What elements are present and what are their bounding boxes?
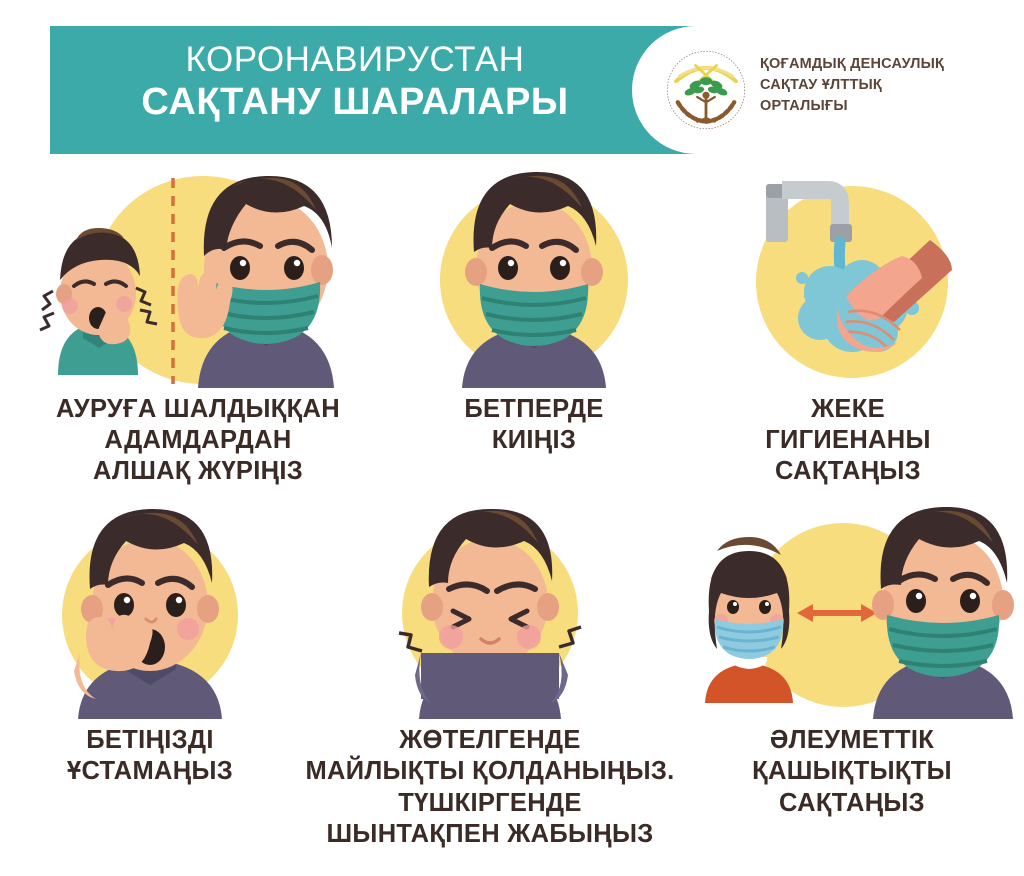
logo-panel: ҚОҒАМДЫҚ ДЕНСАУЛЫҚ САҚТАУ ҰЛТТЫҚ ОРТАЛЫҒ… [632,26,1024,154]
caption-line: ҰСТАМАҢЫЗ [67,756,233,787]
caption-line: КИІҢІЗ [464,425,603,456]
caption-line: ШЫНТАҚПЕН ЖАБЫҢЫЗ [305,819,674,850]
boy-covering-mouth-with-tissue-illustration [365,507,615,719]
girl-and-man-with-distance-arrow-illustration [687,507,1017,719]
caption-cover-cough: ЖӨТЕЛГЕНДЕ МАЙЛЫҚТЫ ҚОЛДАНЫҢЫЗ. ТҮШКІРГЕ… [305,725,674,849]
caption-line: ЖЕКЕ [765,394,931,425]
page-title: КОРОНАВИРУСТАН САҚТАНУ ШАРАЛАРЫ [90,40,620,124]
caption-keep-distance-from-sick: АУРУҒА ШАЛДЫҚҚАН АДАМДАРДАН АЛШАҚ ЖҮРІҢІ… [56,394,340,487]
caption-personal-hygiene: ЖЕКЕ ГИГИЕНАНЫ САҚТАҢЫЗ [765,394,931,487]
panel-row-top: АУРУҒА ШАЛДЫҚҚАН АДАМДАРДАН АЛШАҚ ЖҮРІҢІ… [0,160,1024,487]
header: КОРОНАВИРУСТАН САҚТАНУ ШАРАЛАРЫ [0,26,1024,154]
title-line-1: КОРОНАВИРУСТАН [90,40,620,79]
panel-keep-distance-from-sick: АУРУҒА ШАЛДЫҚҚАН АДАМДАРДАН АЛШАҚ ЖҮРІҢІ… [0,160,396,487]
hand-washing-under-faucet-illustration [722,160,974,388]
panel-dont-touch-face: БЕТІҢІЗДІ ҰСТАМАҢЫЗ [0,507,300,849]
sick-person-and-masked-man-with-divider-illustration [28,160,368,388]
panel-cover-cough: ЖӨТЕЛГЕНДЕ МАЙЛЫҚТЫ ҚОЛДАНЫҢЫЗ. ТҮШКІРГЕ… [300,507,680,849]
caption-line: ЖӨТЕЛГЕНДЕ [305,725,674,756]
org-line-2: САҚТАУ ҰЛТТЫҚ [760,75,944,96]
panel-social-distance: ӘЛЕУМЕТТІК ҚАШЫҚТЫҚТЫ САҚТАҢЫЗ [680,507,1024,849]
organization-name: ҚОҒАМДЫҚ ДЕНСАУЛЫҚ САҚТАУ ҰЛТТЫҚ ОРТАЛЫҒ… [760,54,944,117]
title-line-2: САҚТАНУ ШАРАЛАРЫ [90,81,620,124]
advice-panel-grid: АУРУҒА ШАЛДЫҚҚАН АДАМДАРДАН АЛШАҚ ЖҮРІҢІ… [0,160,1024,850]
caption-line: САҚТАҢЫЗ [752,788,952,819]
caption-line: АДАМДАРДАН [56,425,340,456]
caption-line: АУРУҒА ШАЛДЫҚҚАН [56,394,340,425]
caption-line: БЕТПЕРДЕ [464,394,603,425]
caption-line: ГИГИЕНАНЫ [765,425,931,456]
org-line-1: ҚОҒАМДЫҚ ДЕНСАУЛЫҚ [760,54,944,75]
caption-line: ӘЛЕУМЕТТІК [752,725,952,756]
caption-line: САҚТАҢЫЗ [765,456,931,487]
caption-dont-touch-face: БЕТІҢІЗДІ ҰСТАМАҢЫЗ [67,725,233,787]
caption-line: АЛШАҚ ЖҮРІҢІЗ [56,456,340,487]
caption-line: МАЙЛЫҚТЫ ҚОЛДАНЫҢЫЗ. [305,756,674,787]
caption-wear-mask: БЕТПЕРДЕ КИІҢІЗ [464,394,603,456]
tree-emblem-logo-icon [662,46,750,134]
panel-wear-mask: БЕТПЕРДЕ КИІҢІЗ [396,160,672,487]
caption-line: БЕТІҢІЗДІ [67,725,233,756]
panel-row-bottom: БЕТІҢІЗДІ ҰСТАМАҢЫЗ [0,507,1024,849]
org-line-3: ОРТАЛЫҒЫ [760,96,944,117]
caption-line: ҚАШЫҚТЫҚТЫ [752,756,952,787]
panel-personal-hygiene: ЖЕКЕ ГИГИЕНАНЫ САҚТАҢЫЗ [672,160,1024,487]
boy-touching-face-illustration [34,507,266,719]
caption-social-distance: ӘЛЕУМЕТТІК ҚАШЫҚТЫҚТЫ САҚТАҢЫЗ [752,725,952,818]
caption-line: ТҮШКІРГЕНДЕ [305,788,674,819]
masked-man-portrait-illustration [418,160,650,388]
